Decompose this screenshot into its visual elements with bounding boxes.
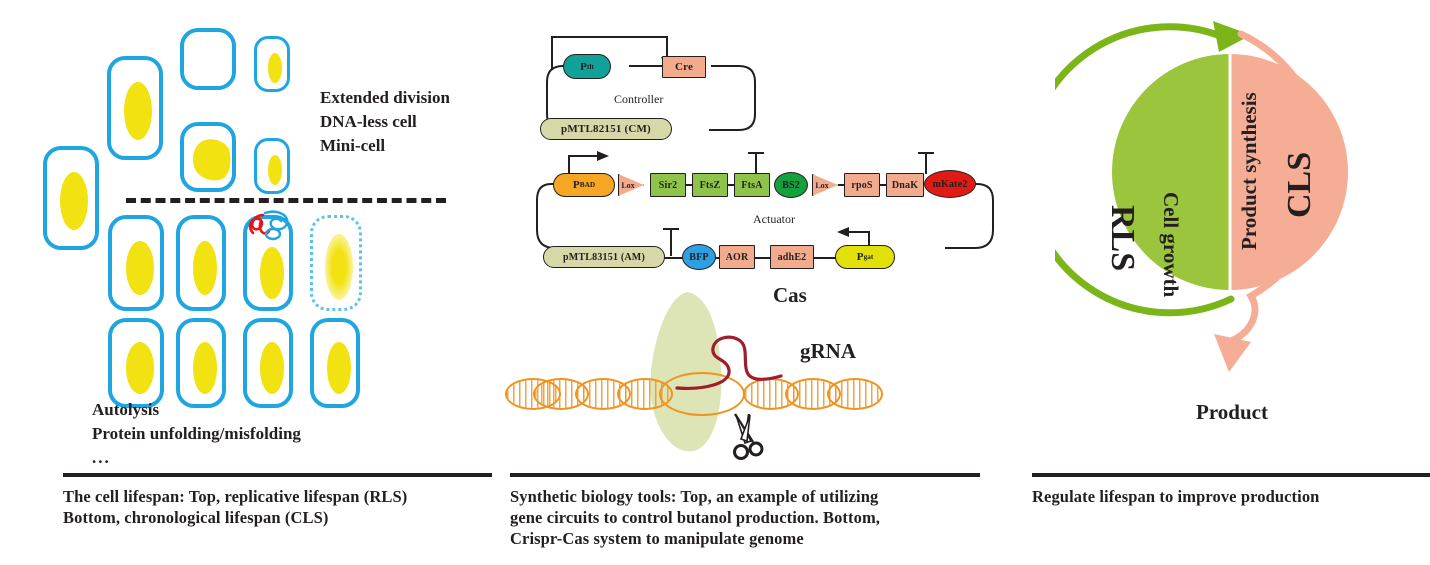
caption-left-line-0: The cell lifespan: Top, replicative life… bbox=[63, 486, 503, 507]
gene-dnak: DnaK bbox=[886, 173, 924, 197]
gene-sir2: Sir2 bbox=[650, 173, 686, 197]
panel-regulate-lifespan: RLS Cell growth Product synthesis CLS Pr… bbox=[1015, 0, 1430, 565]
gene-bfp: BFP bbox=[682, 244, 716, 270]
cell-cls-3-unfolded bbox=[243, 215, 293, 311]
gene-cre-label: Cre bbox=[675, 61, 693, 73]
promoter-ptlt-label: P bbox=[580, 61, 587, 73]
terminator-1 bbox=[748, 152, 764, 174]
cell-rls-2 bbox=[107, 56, 163, 160]
rls-big-label: RLS bbox=[1103, 205, 1141, 271]
nucleoid bbox=[268, 155, 282, 185]
rls-cls-divider bbox=[126, 198, 446, 203]
cell-cls-2 bbox=[176, 215, 226, 311]
nucleoid bbox=[126, 342, 154, 394]
caption-mid-line-0: Synthetic biology tools: Top, an example… bbox=[510, 486, 1010, 507]
terminator-2 bbox=[918, 152, 934, 174]
cls-small-label: Product synthesis bbox=[1237, 92, 1262, 250]
cell-cls-8 bbox=[310, 318, 360, 408]
grna-strand bbox=[673, 332, 803, 402]
gene-mkate2: mKate2 bbox=[924, 170, 976, 198]
nucleoid bbox=[260, 247, 284, 299]
rls-label-2: Mini-cell bbox=[320, 134, 450, 158]
caption-rule-left bbox=[63, 473, 492, 477]
terminator-3 bbox=[663, 228, 679, 256]
cls-label-2: ... bbox=[92, 446, 301, 470]
cas-label: Cas bbox=[773, 283, 807, 308]
genome-nucleosome-7 bbox=[827, 378, 883, 410]
cell-rls-6-mini bbox=[254, 138, 290, 194]
cell-cls-4-lysed bbox=[310, 215, 362, 311]
gene-ftsz: FtsZ bbox=[692, 173, 728, 197]
unfolded-protein-icon bbox=[243, 207, 303, 249]
gene-cre: Cre bbox=[662, 56, 706, 78]
promoter-pgat: Pgat bbox=[835, 245, 895, 269]
gene-ftsa: FtsA bbox=[734, 173, 770, 197]
promoter-ptlt: Ptlt bbox=[563, 54, 611, 79]
caption-mid-line-1: gene circuits to control butanol product… bbox=[510, 507, 1010, 528]
nucleoid bbox=[268, 53, 282, 83]
rls-small-label: Cell growth bbox=[1158, 192, 1183, 297]
cell-cls-1 bbox=[108, 215, 164, 311]
figure-root: Extended division DNA-less cell Mini-cel… bbox=[0, 0, 1430, 565]
nucleoid bbox=[260, 342, 284, 394]
cell-rls-3-dnaless bbox=[180, 28, 236, 90]
gene-bs2: BS2 bbox=[774, 172, 808, 198]
backbone-pmtl82151-label: pMTL82151 (CM) bbox=[561, 123, 651, 135]
promoter-ptlt-subscript: tlt bbox=[587, 63, 594, 71]
cls-label-1: Protein unfolding/misfolding bbox=[92, 422, 301, 446]
promoter-pbad: PBAD bbox=[553, 173, 615, 197]
nucleoid-diffuse bbox=[325, 234, 353, 300]
cell-cls-5 bbox=[108, 318, 164, 408]
caption-rule-mid bbox=[510, 473, 980, 477]
nucleoid bbox=[124, 82, 152, 140]
caption-mid-line-2: Crispr-Cas system to manipulate genome bbox=[510, 528, 1010, 549]
caption-rule-right bbox=[1032, 473, 1430, 477]
nucleoid bbox=[60, 172, 88, 230]
nucleoid-misfolded bbox=[189, 136, 235, 185]
cell-cls-7 bbox=[243, 318, 293, 408]
caption-right-line-0: Regulate lifespan to improve production bbox=[1032, 486, 1430, 507]
cell-rls-1 bbox=[43, 146, 99, 250]
nucleoid bbox=[193, 342, 217, 394]
cls-label-0: Autolysis bbox=[92, 398, 301, 422]
product-label: Product bbox=[1196, 400, 1268, 425]
panel-cell-lifespan: Extended division DNA-less cell Mini-cel… bbox=[0, 0, 505, 565]
gene-rpos: rpoS bbox=[844, 173, 880, 197]
gene-aor: AOR bbox=[719, 245, 755, 269]
scissors-icon bbox=[731, 412, 775, 464]
backbone-pmtl83151: pMTL83151 (AM) bbox=[543, 246, 665, 268]
grna-label: gRNA bbox=[800, 339, 856, 364]
rls-labels: Extended division DNA-less cell Mini-cel… bbox=[320, 86, 450, 158]
cell-rls-4-blob bbox=[180, 122, 236, 192]
backbone-pmtl82151: pMTL82151 (CM) bbox=[540, 118, 672, 140]
rls-label-0: Extended division bbox=[320, 86, 450, 110]
cell-cls-6 bbox=[176, 318, 226, 408]
actuator-title: Actuator bbox=[753, 212, 795, 227]
cls-labels: Autolysis Protein unfolding/misfolding .… bbox=[92, 398, 301, 470]
caption-left-line-1: Bottom, chronological lifespan (CLS) bbox=[63, 507, 503, 528]
nucleoid bbox=[126, 241, 154, 295]
controller-title: Controller bbox=[614, 92, 663, 107]
rls-label-1: DNA-less cell bbox=[320, 110, 450, 134]
nucleoid bbox=[327, 342, 351, 394]
nucleosome-stripes bbox=[829, 380, 881, 408]
cell-rls-5-mini bbox=[254, 36, 290, 92]
caption-right: Regulate lifespan to improve production bbox=[1032, 486, 1430, 507]
gene-adhe2: adhE2 bbox=[770, 245, 814, 269]
caption-left: The cell lifespan: Top, replicative life… bbox=[63, 486, 503, 528]
panel-synthetic-biology: Ptlt Cre Controller pMTL82151 (CM) PBAD bbox=[505, 0, 1015, 565]
nucleoid bbox=[193, 241, 217, 295]
caption-mid: Synthetic biology tools: Top, an example… bbox=[510, 486, 1010, 549]
cls-big-label: CLS bbox=[1281, 152, 1319, 218]
